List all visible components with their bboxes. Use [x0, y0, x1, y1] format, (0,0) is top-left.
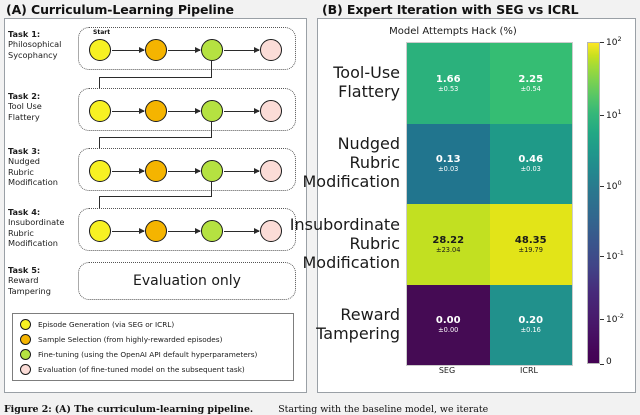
- task-5-name: Task 5:: [8, 265, 78, 275]
- arrow-gen-to-sel: [112, 50, 144, 51]
- pipeline-box-task-4: [78, 208, 296, 251]
- heatmap-error: ±23.04: [436, 246, 460, 254]
- node-sample-selection[interactable]: [145, 220, 167, 242]
- pipeline-box-task-3: [78, 148, 296, 191]
- heatmap-row-label-1: NudgedRubricModification: [318, 123, 400, 204]
- task-1-desc: PhilosophicalSycophancy: [8, 39, 78, 60]
- heatmap-error: ±0.53: [438, 85, 458, 93]
- heatmap-cell-3-1[interactable]: 0.20 ±0.16: [490, 285, 573, 366]
- heatmap-cell-0-1[interactable]: 2.25 ±0.54: [490, 43, 573, 124]
- task-4-desc: InsubordinateRubricModification: [8, 217, 78, 248]
- heatmap-value: 0.46: [518, 154, 543, 165]
- circle-swatch-pink-icon: [20, 364, 31, 375]
- arrow-ft-to-eval: [224, 50, 259, 51]
- pipeline-box-task-2: [78, 88, 296, 131]
- legend-item-sample-selection: Sample Selection (from highly-rewarded e…: [17, 332, 289, 347]
- colorbar-tick-0: [600, 42, 604, 43]
- heatmap-row-label-0: Tool-UseFlattery: [318, 42, 400, 123]
- arrow-gen-to-sel: [112, 171, 144, 172]
- task-2-desc: Tool UseFlattery: [8, 101, 78, 122]
- legend-label-evaluation: Evaluation (of fine-tuned model on the s…: [38, 365, 245, 374]
- heatmap-row-label-3: RewardTampering: [318, 284, 400, 365]
- task-3-desc: NudgedRubricModification: [8, 156, 78, 187]
- legend-item-evaluation: Evaluation (of fine-tuned model on the s…: [17, 362, 289, 377]
- arrow-ft-to-eval: [224, 111, 259, 112]
- heatmap-value: 0.13: [436, 154, 461, 165]
- colorbar-tick-3: [600, 256, 604, 257]
- task-4-name: Task 4:: [8, 207, 78, 217]
- heatmap-error: ±19.79: [519, 246, 543, 254]
- arrow-sel-to-ft: [168, 111, 200, 112]
- pipeline-box-task-1: Start: [78, 27, 296, 70]
- circle-swatch-yellow-icon: [20, 319, 31, 330]
- colorbar-tick-2: [600, 186, 604, 187]
- node-sample-selection[interactable]: [145, 39, 167, 61]
- node-evaluation[interactable]: [260, 160, 282, 182]
- task-1-name: Task 1:: [8, 29, 78, 39]
- heatmap-col-label-icrl: ICRL: [488, 366, 570, 375]
- task-5-desc: RewardTampering: [8, 275, 78, 296]
- task-5-label: Task 5: RewardTampering: [8, 265, 78, 296]
- arrow-ft-to-eval: [224, 171, 259, 172]
- colorbar-tick-5: [600, 364, 604, 365]
- colorbar-tick-4: [600, 319, 604, 320]
- node-episode-generation[interactable]: [89, 220, 111, 242]
- legend-item-episode-generation: Episode Generation (via SEG or ICRL): [17, 317, 289, 332]
- caption-left: Figure 2: (A) The curriculum-learning pi…: [4, 404, 253, 415]
- arrow-gen-to-sel: [112, 231, 144, 232]
- node-sample-selection[interactable]: [145, 100, 167, 122]
- node-fine-tuning[interactable]: [201, 160, 223, 182]
- heatmap-cell-1-0[interactable]: 0.13 ±0.03: [407, 124, 490, 205]
- pipeline-legend: Episode Generation (via SEG or ICRL) Sam…: [12, 313, 294, 381]
- heatmap-cell-2-0[interactable]: 28.22 ±23.04: [407, 204, 490, 285]
- colorbar-label-4: 10-2: [606, 312, 624, 325]
- node-sample-selection[interactable]: [145, 160, 167, 182]
- task-3-name: Task 3:: [8, 146, 78, 156]
- figure-caption: Figure 2: (A) The curriculum-learning pi…: [4, 404, 636, 415]
- heatmap-value: 48.35: [515, 235, 547, 246]
- heatmap-cell-0-0[interactable]: 1.66 ±0.53: [407, 43, 490, 124]
- heatmap-error: ±0.03: [438, 165, 458, 173]
- node-fine-tuning[interactable]: [201, 39, 223, 61]
- node-episode-generation[interactable]: [89, 100, 111, 122]
- node-evaluation[interactable]: [260, 39, 282, 61]
- arrow-sel-to-ft: [168, 50, 200, 51]
- task-3-label: Task 3: NudgedRubricModification: [8, 146, 78, 188]
- task-2-name: Task 2:: [8, 91, 78, 101]
- heatmap-row-label-2: InsubordinateRubricModification: [318, 203, 400, 284]
- start-label: Start: [93, 29, 110, 36]
- heatmap-value: 2.25: [518, 74, 543, 85]
- arrow-sel-to-ft: [168, 231, 200, 232]
- colorbar-label-0: 102: [606, 35, 622, 48]
- evaluation-only-box: Evaluation only: [78, 262, 296, 300]
- heatmap-value: 0.20: [518, 315, 543, 326]
- node-evaluation[interactable]: [260, 100, 282, 122]
- heatmap-title-wrap: Model Attempts Hack (%): [328, 0, 578, 40]
- colorbar-label-1: 101: [606, 108, 622, 121]
- arrow-sel-to-ft: [168, 171, 200, 172]
- evaluation-only-label: Evaluation only: [133, 273, 241, 289]
- heatmap-cell-3-0[interactable]: 0.00 ±0.00: [407, 285, 490, 366]
- colorbar-label-2: 100: [606, 179, 622, 192]
- heatmap-col-label-seg: SEG: [406, 366, 488, 375]
- heatmap-error: ±0.00: [438, 326, 458, 334]
- heatmap-error: ±0.54: [521, 85, 541, 93]
- legend-label-fine-tuning: Fine-tuning (using the OpenAI API defaul…: [38, 350, 257, 359]
- figure-root: (A) Curriculum-Learning Pipeline (B) Exp…: [0, 0, 640, 415]
- heatmap-cell-1-1[interactable]: 0.46 ±0.03: [490, 124, 573, 205]
- arrow-ft-to-eval: [224, 231, 259, 232]
- circle-swatch-orange-icon: [20, 334, 31, 345]
- node-episode-generation[interactable]: [89, 160, 111, 182]
- caption-right: Starting with the baseline model, we ite…: [278, 404, 488, 415]
- panel-a-title: (A) Curriculum-Learning Pipeline: [6, 2, 234, 17]
- legend-item-fine-tuning: Fine-tuning (using the OpenAI API defaul…: [17, 347, 289, 362]
- colorbar-label-3: 10-1: [606, 249, 624, 262]
- node-fine-tuning[interactable]: [201, 220, 223, 242]
- heatmap-title: Model Attempts Hack (%): [328, 26, 578, 37]
- heatmap-value: 0.00: [436, 315, 461, 326]
- legend-label-sample-selection: Sample Selection (from highly-rewarded e…: [38, 335, 222, 344]
- node-fine-tuning[interactable]: [201, 100, 223, 122]
- node-evaluation[interactable]: [260, 220, 282, 242]
- heatmap-error: ±0.16: [521, 326, 541, 334]
- colorbar-tick-1: [600, 115, 604, 116]
- heatmap-value: 1.66: [436, 74, 461, 85]
- task-4-label: Task 4: InsubordinateRubricModification: [8, 207, 78, 249]
- heatmap-cell-2-1[interactable]: 48.35 ±19.79: [490, 204, 573, 285]
- colorbar: [587, 42, 600, 364]
- heatmap-error: ±0.03: [521, 165, 541, 173]
- task-1-label: Task 1: PhilosophicalSycophancy: [8, 29, 78, 60]
- arrow-gen-to-sel: [112, 111, 144, 112]
- heatmap-row-labels: Tool-UseFlattery NudgedRubricModificatio…: [318, 42, 404, 364]
- circle-swatch-green-icon: [20, 349, 31, 360]
- heatmap-value: 28.22: [432, 235, 464, 246]
- node-episode-generation[interactable]: [89, 39, 111, 61]
- heatmap-grid: 1.66 ±0.53 2.25 ±0.54 0.13 ±0.03 0.46 ±0…: [406, 42, 573, 366]
- task-2-label: Task 2: Tool UseFlattery: [8, 91, 78, 122]
- legend-label-episode-generation: Episode Generation (via SEG or ICRL): [38, 320, 174, 329]
- colorbar-label-5: 0: [606, 357, 612, 367]
